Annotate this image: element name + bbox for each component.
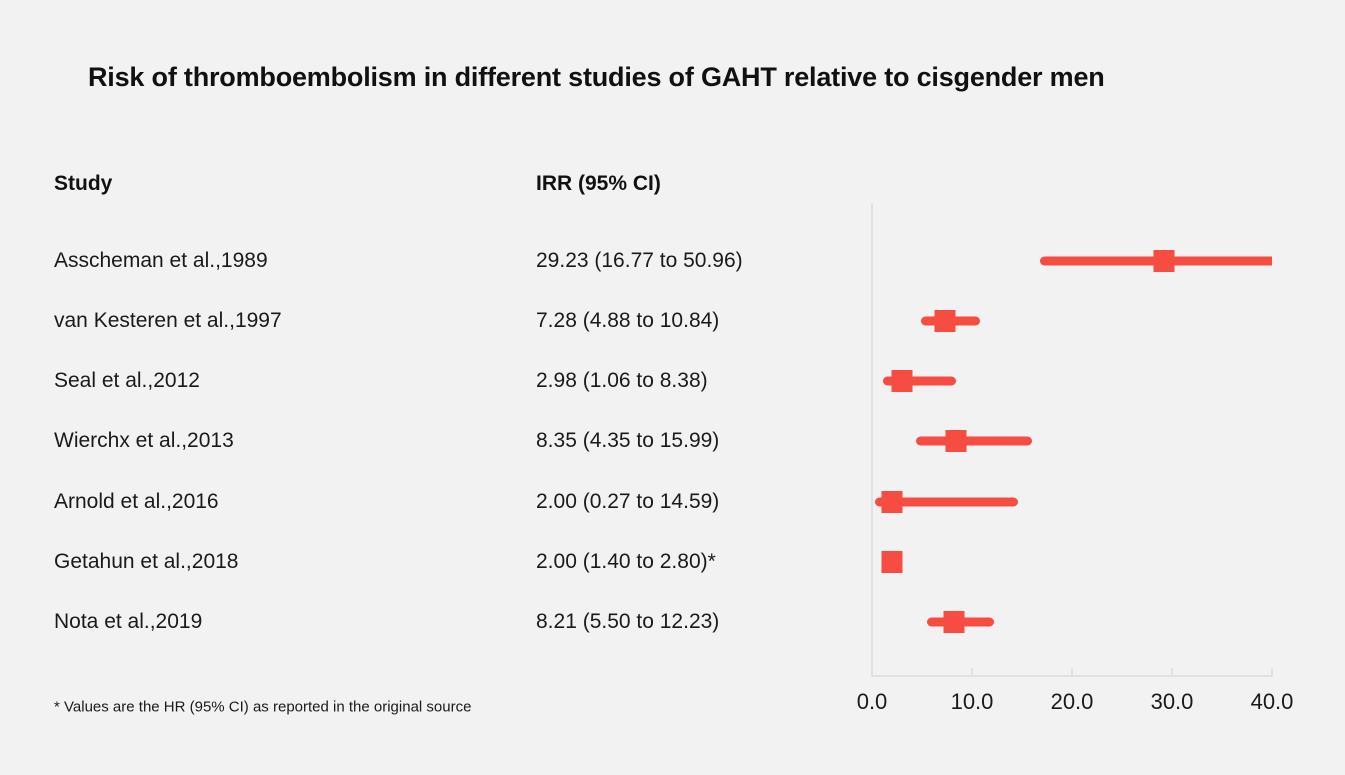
x-axis-tick (1071, 668, 1073, 677)
irr-value: 2.98 (1.06 to 8.38) (536, 369, 708, 393)
x-axis-tick-label: 10.0 (951, 689, 994, 715)
x-axis-tick-label: 20.0 (1051, 689, 1094, 715)
confidence-interval-bar (916, 437, 1032, 446)
chart-title: Risk of thromboembolism in different stu… (88, 62, 1105, 93)
footnote: * Values are the HR (95% CI) as reported… (54, 699, 471, 716)
irr-value: 29.23 (16.77 to 50.96) (536, 249, 743, 273)
x-axis-tick-label: 40.0 (1251, 689, 1294, 715)
irr-value: 2.00 (0.27 to 14.59) (536, 490, 719, 514)
study-label: Wierchx et al.,2013 (54, 429, 234, 453)
irr-value: 7.28 (4.88 to 10.84) (536, 309, 719, 333)
x-axis-tick (971, 668, 973, 677)
column-header-study: Study (54, 172, 112, 196)
study-label: Getahun et al.,2018 (54, 550, 238, 574)
study-label: Arnold et al.,2016 (54, 490, 219, 514)
x-axis-tick (1171, 668, 1173, 677)
x-axis-tick (1271, 668, 1273, 677)
study-label: van Kesteren et al.,1997 (54, 309, 282, 333)
point-estimate-marker (945, 430, 966, 452)
point-estimate-marker (882, 551, 903, 573)
point-estimate-marker (891, 370, 912, 392)
point-estimate-marker (934, 310, 955, 332)
study-label: Nota et al.,2019 (54, 610, 202, 634)
confidence-interval-layer (872, 203, 1272, 675)
x-axis: 0.010.020.030.040.0 (872, 675, 1272, 676)
study-label: Seal et al.,2012 (54, 369, 200, 393)
point-estimate-marker (944, 611, 965, 633)
plot-area (872, 203, 1272, 675)
x-axis-tick-label: 0.0 (857, 689, 888, 715)
study-label: Asscheman et al.,1989 (54, 249, 268, 273)
irr-value: 8.21 (5.50 to 12.23) (536, 610, 719, 634)
column-header-irr: IRR (95% CI) (536, 172, 661, 196)
point-estimate-marker (882, 491, 903, 513)
x-axis-tick-label: 30.0 (1151, 689, 1194, 715)
irr-value: 8.35 (4.35 to 15.99) (536, 429, 719, 453)
point-estimate-marker (1154, 250, 1175, 272)
irr-value: 2.00 (1.40 to 2.80)* (536, 550, 716, 574)
forest-plot-figure: Risk of thromboembolism in different stu… (0, 0, 1345, 775)
x-axis-tick (871, 668, 873, 677)
